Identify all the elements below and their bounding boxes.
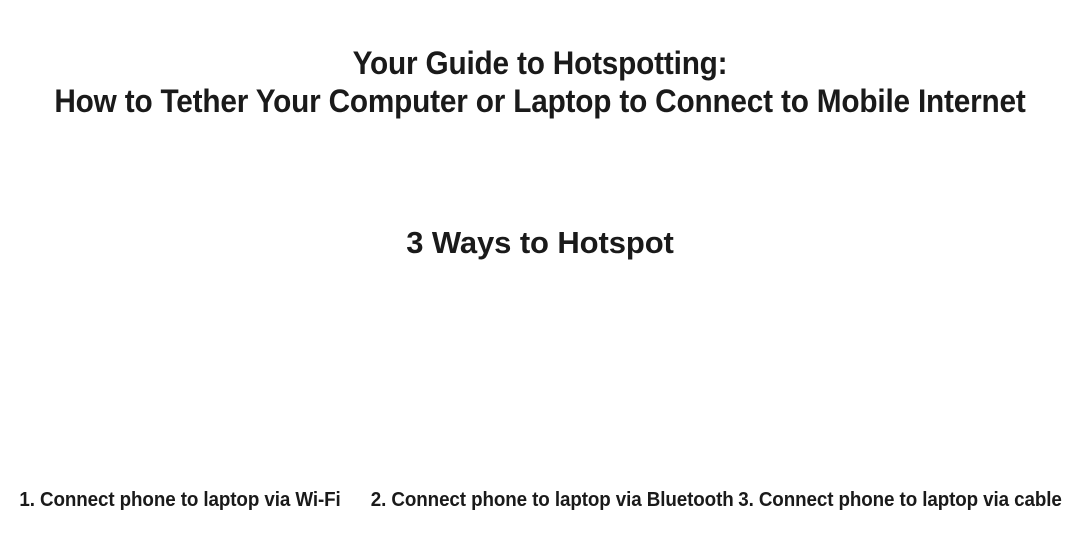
page-title-line-1: Your Guide to Hotspotting: [38,44,1042,82]
infographic-page: Your Guide to Hotspotting: How to Tether… [0,0,1080,552]
section-heading: 3 Ways to Hotspot [0,224,1080,262]
illustration-area [0,282,1080,478]
illustration-slot-cable [720,282,1080,478]
method-caption-bluetooth: 2. Connect phone to laptop via Bluetooth [371,487,709,513]
illustration-slot-bluetooth [360,282,720,478]
method-caption-cable: 3. Connect phone to laptop via cable [731,487,1069,513]
page-title: Your Guide to Hotspotting: How to Tether… [0,44,1080,120]
method-caption-row: 1. Connect phone to laptop via Wi-Fi 2. … [0,487,1080,513]
page-title-line-2: How to Tether Your Computer or Laptop to… [38,82,1042,120]
illustration-slot-wifi [0,282,360,478]
method-caption-wifi: 1. Connect phone to laptop via Wi-Fi [11,487,349,513]
